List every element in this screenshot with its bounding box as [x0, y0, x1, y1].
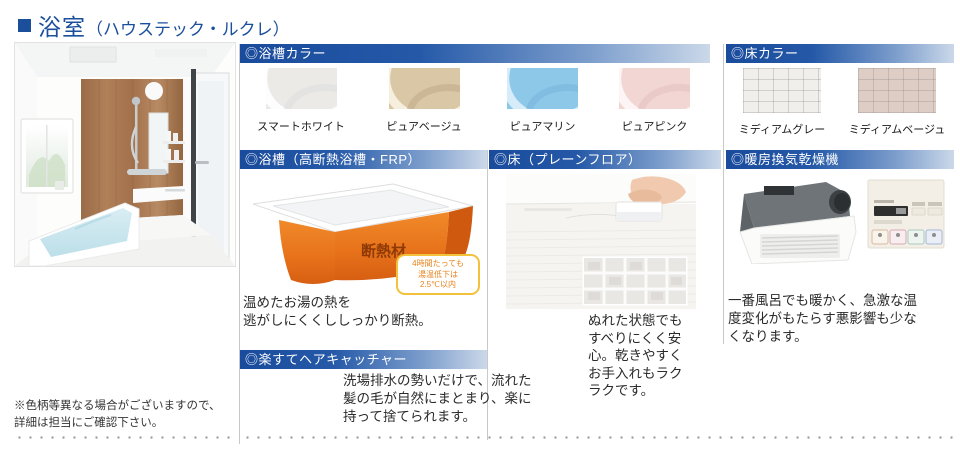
floor-color-label-0: ミディアムグレー [726, 121, 838, 137]
dryer-unit-photo [730, 176, 860, 269]
tub-color-label-0: スマートホワイト [240, 118, 362, 134]
tub-swatch-pure-marine [507, 68, 578, 109]
page-title: 浴室 （ハウステック・ルクレ） [18, 8, 290, 42]
tub-description: 温めたお湯の熱を 逃がしにくくししっかり断熱。 [243, 294, 487, 330]
section-header-floor-color: ◎床カラー [726, 44, 954, 63]
divider-vertical-right [723, 44, 724, 344]
ceiling-dryer-unit-icon [730, 176, 860, 264]
tub-color-swatch-group: スマートホワイト ピュアベージュ ピュアマリン [240, 68, 710, 134]
section-header-tub-color: ◎浴槽カラー [240, 44, 710, 63]
section-header-hair-catcher: ◎楽すてヘアキャッチャー [240, 350, 487, 369]
divider-dotted-bottom-right [242, 436, 954, 439]
floor-color-swatch-group: ミディアムグレー ミディアムベージュ [726, 68, 956, 137]
footnote-text: ※色柄等異なる場合がございますので、 詳細は担当にご確認下さい。 [14, 398, 238, 431]
floor-color-item-0[interactable]: ミディアムグレー [726, 68, 838, 137]
floor-color-item-1[interactable]: ミディアムベージュ [838, 68, 956, 137]
floor-photo [506, 174, 696, 309]
section-header-floor: ◎床（プレーンフロア） [489, 150, 721, 169]
hair-catcher-description: 洗場排水の勢いだけで、流れた 髪の毛が自然にまとまり、楽に 持って捨てられます。 [343, 372, 583, 427]
tub-swatch-pure-pink [619, 68, 690, 109]
bathroom-illustration [15, 43, 235, 266]
floor-wipe-illustration [506, 174, 696, 309]
title-sub-text: （ハウステック・ルクレ） [86, 15, 290, 40]
section-header-tub: ◎浴槽（高断熱浴槽・FRP） [240, 150, 487, 169]
floor-swatch-medium-beige [858, 68, 936, 113]
tub-color-label-2: ピュアマリン [486, 118, 599, 134]
tub-color-item-3[interactable]: ピュアピンク [599, 68, 710, 134]
floor-color-label-1: ミディアムベージュ [838, 121, 956, 137]
dryer-description: 一番風呂でも暖かく、急激な温 度変化がもたらす悪影響も少な くなります。 [728, 292, 956, 347]
tub-color-item-1[interactable]: ピュアベージュ [362, 68, 486, 134]
remote-control-panel-icon [866, 178, 946, 250]
title-main-text: 浴室 [38, 8, 86, 42]
title-bullet-icon [18, 19, 31, 32]
floor-description: ぬれた状態でも すべりにくく安 心。乾きやすく お手入れもラク ラクです。 [588, 312, 718, 400]
floor-swatch-medium-grey [743, 68, 821, 113]
product-spec-sheet: 浴室 （ハウステック・ルクレ） [0, 0, 960, 450]
tub-color-label-1: ピュアベージュ [362, 118, 486, 134]
dryer-remote-control-photo [866, 178, 946, 255]
tub-color-item-2[interactable]: ピュアマリン [486, 68, 599, 134]
heat-retention-badge: 4時間たっても 湯温低下は 2.5℃以内 [396, 254, 480, 295]
tub-swatch-pure-beige [389, 68, 460, 109]
section-header-dryer: ◎暖房換気乾燥機 [726, 150, 954, 169]
bathroom-photo [14, 42, 236, 267]
tub-color-item-0[interactable]: スマートホワイト [240, 68, 362, 134]
divider-dotted-bottom-left [14, 436, 238, 439]
tub-swatch-smart-white [266, 68, 337, 109]
tub-color-label-3: ピュアピンク [599, 118, 710, 134]
